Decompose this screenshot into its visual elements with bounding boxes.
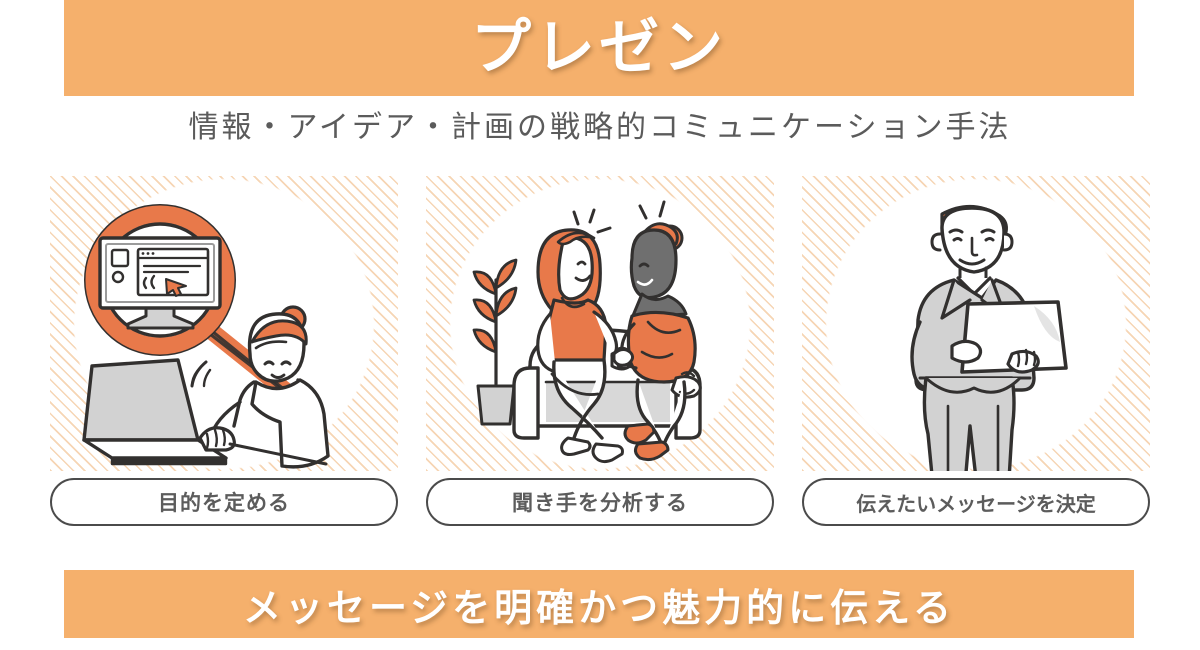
card-1-label: 目的を定める (158, 487, 290, 517)
page-subtitle: 情報・アイデア・計画の戦略的コミュニケーション手法 (0, 102, 1200, 146)
infographic-page: プレゼン 情報・アイデア・計画の戦略的コミュニケーション手法 (0, 0, 1200, 650)
two-women-talking-on-sofa-icon (426, 176, 774, 471)
card-1-label-pill[interactable]: 目的を定める (50, 478, 398, 526)
card-3-label: 伝えたいメッセージを決定 (856, 488, 1096, 517)
businessman-holding-laptop-icon (802, 176, 1150, 471)
card-3-label-pill[interactable]: 伝えたいメッセージを決定 (802, 478, 1150, 526)
footer-banner: メッセージを明確かつ魅力的に伝える (64, 570, 1134, 638)
card-row: 目的を定める (50, 176, 1150, 526)
person-at-laptop-with-magnifier-icon (50, 176, 398, 471)
card-2-label: 聞き手を分析する (512, 487, 688, 517)
card-3-illustration-area (802, 176, 1150, 471)
card-step-2[interactable]: 聞き手を分析する (426, 176, 774, 526)
footer-text: メッセージを明確かつ魅力的に伝える (243, 577, 955, 632)
card-2-label-pill[interactable]: 聞き手を分析する (426, 478, 774, 526)
card-2-illustration-area (426, 176, 774, 471)
card-step-1[interactable]: 目的を定める (50, 176, 398, 526)
header-banner: プレゼン (64, 0, 1134, 96)
page-title: プレゼン (471, 18, 727, 78)
card-1-illustration-area (50, 176, 398, 471)
card-step-3[interactable]: 伝えたいメッセージを決定 (802, 176, 1150, 526)
